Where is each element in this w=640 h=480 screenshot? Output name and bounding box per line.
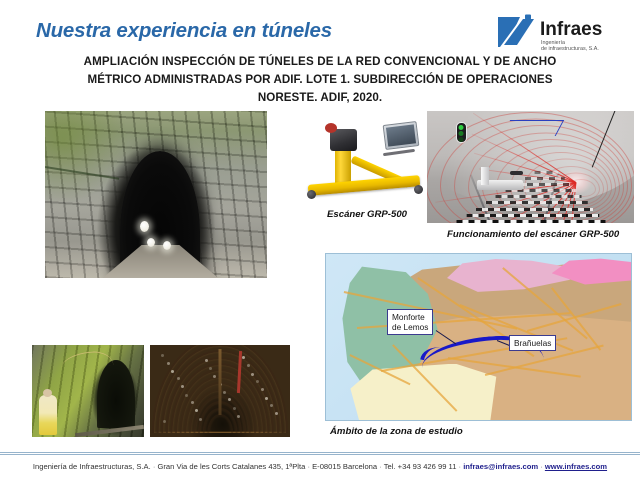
brick-speck <box>233 407 236 410</box>
infraes-logo: Infraes Ingeniería de infraestructuras, … <box>496 13 632 55</box>
footer-divider <box>0 452 640 455</box>
footer: Ingeniería de Infraestructuras, S.A. · G… <box>0 462 640 471</box>
footer-address: Gran Via de les Corts Catalanes 435, 1ªP… <box>157 462 305 471</box>
brick-speck <box>251 373 254 376</box>
tunnel-arch-opening <box>97 360 135 428</box>
rail-sleeper <box>495 195 582 198</box>
brick-speck <box>265 397 268 400</box>
footer-phone: Tel. +34 93 426 99 11 <box>384 462 457 471</box>
study-area-map: Monforte de Lemos Brañuelas <box>325 253 632 421</box>
moss-overlay <box>45 111 134 208</box>
page-subtitle: AMPLIACIÓN INSPECCIÓN DE TÚNELES DE LA R… <box>30 53 610 107</box>
map-label-monforte: Monforte de Lemos <box>387 309 433 335</box>
brick-speck <box>163 420 166 423</box>
footer-company: Ingeniería de Infraestructuras, S.A. <box>33 462 151 471</box>
logo-mark-icon <box>498 15 536 48</box>
footer-website-link[interactable]: www.infraes.com <box>545 462 607 471</box>
rail-sleeper <box>456 220 605 223</box>
scanner-wheel <box>307 190 316 199</box>
subtitle-line-1: AMPLIACIÓN INSPECCIÓN DE TÚNELES DE LA R… <box>30 53 610 71</box>
brick-speck <box>223 391 226 394</box>
brick-speck <box>167 362 170 365</box>
caption-scanner-operation: Funcionamiento del escáner GRP-500 <box>447 229 619 240</box>
brick-speck <box>177 377 180 380</box>
brick-speck <box>185 394 188 397</box>
track-area <box>427 171 634 223</box>
tunnel-green-wall-photo <box>32 345 144 437</box>
scanner-operation-render <box>427 111 634 223</box>
scanner-base-beam <box>308 175 421 196</box>
laptop-icon <box>382 121 419 150</box>
inspection-worker <box>39 395 57 435</box>
scanner-sensor <box>510 171 523 175</box>
footer-city: E-08015 Barcelona <box>312 462 377 471</box>
caption-study-area: Ámbito de la zona de estudio <box>330 426 463 437</box>
caption-scanner-grp500: Escáner GRP-500 <box>327 209 407 220</box>
work-lamp <box>147 238 155 247</box>
page-title: Nuestra experiencia en túneles <box>36 19 332 43</box>
brick-speck <box>205 359 208 362</box>
logo-wordmark: Infraes <box>540 19 602 40</box>
footer-email[interactable]: infraes@infraes.com <box>463 462 538 471</box>
rail-sleeper <box>476 208 594 211</box>
brick-speck <box>275 412 278 415</box>
scanner-wheel <box>414 185 423 194</box>
work-lamp <box>163 241 171 250</box>
rail-sleeper <box>515 183 571 186</box>
brick-speck <box>199 418 202 421</box>
subtitle-line-2: MÉTRICO ADMINISTRADAS POR ADIF. LOTE 1. … <box>30 71 610 89</box>
scanner-head <box>330 129 357 151</box>
brick-speck <box>161 354 164 357</box>
rail-sleeper <box>466 214 600 217</box>
rail-sleeper <box>485 201 587 204</box>
map-label-branuelas: Brañuelas <box>509 335 556 351</box>
scanner-grp500-photo <box>303 118 425 206</box>
rail-sleeper <box>524 177 564 180</box>
brick-speck <box>171 370 174 373</box>
brick-speck <box>261 388 264 391</box>
tunnel-ribs-photo <box>150 345 290 437</box>
scanner-post <box>481 167 489 185</box>
logo-tagline-line2: de infraestructuras, S.A. <box>541 46 599 52</box>
rail-sleeper <box>534 171 559 174</box>
tunnel-masonry-photo <box>45 111 267 278</box>
presentation-slide: Nuestra experiencia en túneles Infraes I… <box>0 0 640 480</box>
subtitle-line-3: NORESTE. ADIF, 2020. <box>30 89 610 107</box>
scanner-handle <box>383 149 415 156</box>
brick-speck <box>237 415 240 418</box>
tunnel-crown-spine <box>219 349 222 415</box>
blue-cable <box>501 120 563 136</box>
brick-speck <box>209 367 212 370</box>
traffic-signal-icon <box>456 122 467 143</box>
brick-speck <box>191 401 194 404</box>
